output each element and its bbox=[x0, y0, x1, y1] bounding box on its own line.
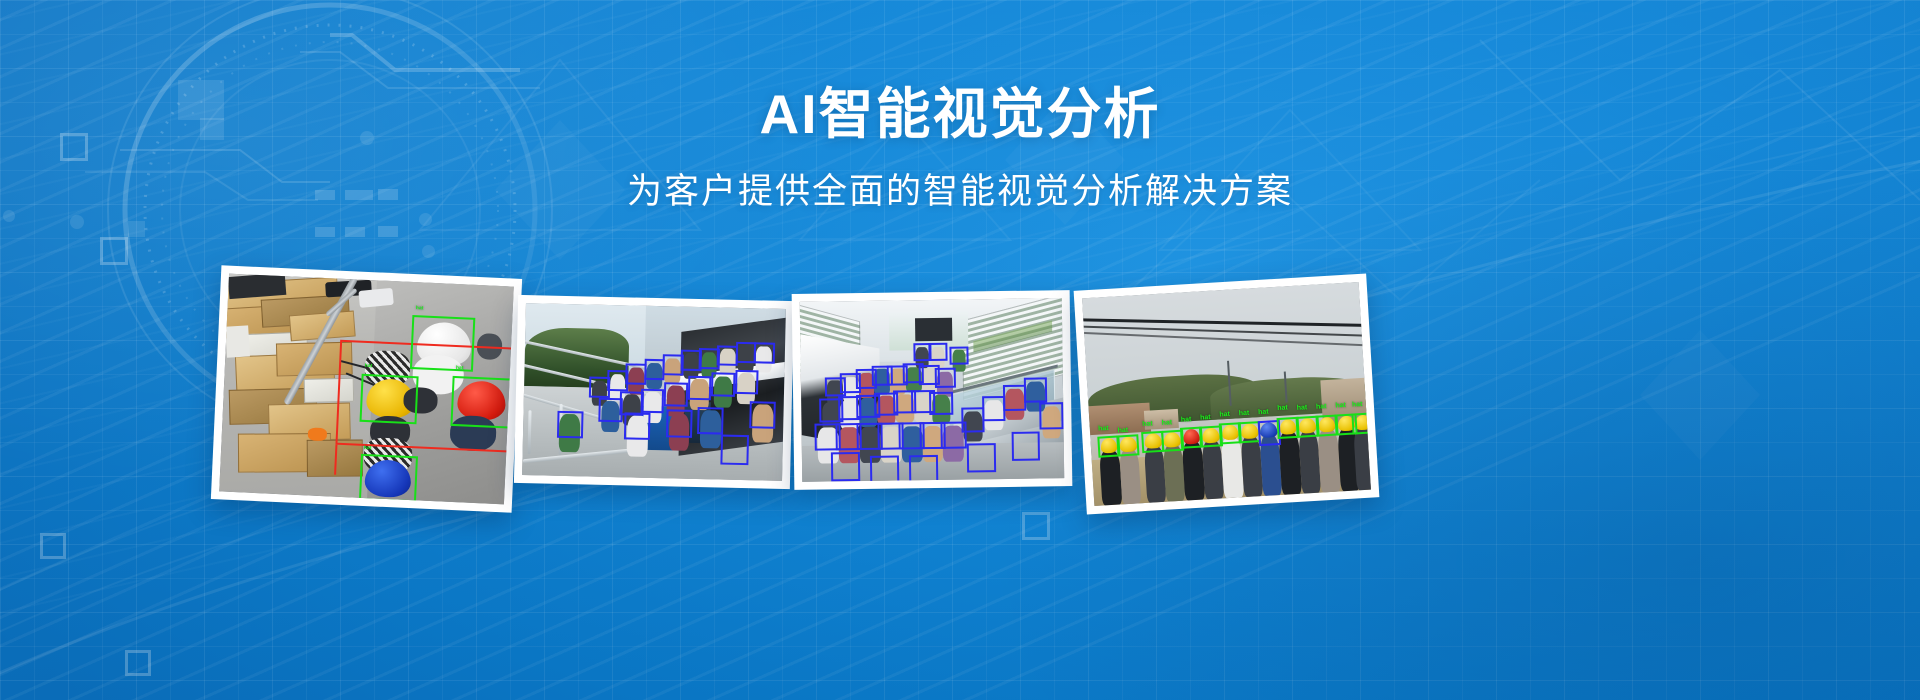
detection-box-helmet bbox=[359, 373, 418, 423]
detection-box-person bbox=[641, 388, 665, 413]
photo-footbridge-crowd-detection[interactable] bbox=[514, 295, 794, 489]
detection-box-helmet bbox=[1117, 435, 1140, 457]
detection-label: hat bbox=[1277, 404, 1288, 412]
detection-box-person bbox=[697, 407, 724, 435]
photo-scene bbox=[800, 298, 1064, 482]
photo-station-crowd-density[interactable] bbox=[792, 290, 1073, 490]
detection-box-person bbox=[870, 455, 899, 482]
detection-box-helmet bbox=[359, 454, 418, 502]
detection-box-person bbox=[688, 376, 712, 401]
detection-box-helmet bbox=[410, 315, 475, 372]
detection-box-person bbox=[664, 382, 688, 407]
detection-label: hat bbox=[1161, 419, 1172, 427]
detection-label: hat bbox=[1239, 409, 1250, 417]
detection-box-person bbox=[711, 373, 735, 398]
detection-box-person bbox=[929, 392, 953, 416]
detection-box-person bbox=[666, 409, 693, 437]
detection-label: hat bbox=[1258, 408, 1269, 416]
photo-warehouse-helmet-detection[interactable]: hat hat hat hat bbox=[211, 265, 522, 512]
hero-copy: AI智能视觉分析 为客户提供全面的智能视觉分析解决方案 bbox=[0, 84, 1920, 213]
detection-box-person bbox=[749, 401, 776, 429]
detection-box-person bbox=[934, 368, 955, 388]
detection-label: hat bbox=[1219, 410, 1230, 418]
photo-scene: hat hat hat hat bbox=[219, 274, 514, 505]
detection-label: hat bbox=[1316, 403, 1327, 411]
detection-box-person bbox=[557, 410, 584, 438]
detection-box-person bbox=[967, 443, 996, 472]
detection-box-person bbox=[909, 455, 938, 482]
photo-scene bbox=[522, 303, 786, 481]
detection-box-helmet bbox=[450, 375, 512, 428]
page-title: AI智能视觉分析 bbox=[0, 84, 1920, 145]
detection-label: hat bbox=[1352, 401, 1363, 409]
detection-box-person bbox=[831, 452, 860, 481]
hero-banner: AI智能视觉分析 为客户提供全面的智能视觉分析解决方案 bbox=[0, 0, 1920, 700]
detection-label: hat bbox=[1098, 425, 1109, 433]
detection-box-person bbox=[624, 412, 651, 440]
detection-box-person bbox=[720, 435, 749, 465]
detection-label: hat bbox=[1296, 404, 1307, 412]
detection-box-person bbox=[735, 370, 759, 395]
detection-box-person bbox=[753, 343, 774, 364]
detection-box-person bbox=[1024, 378, 1048, 404]
detection-box-person bbox=[913, 343, 932, 361]
photo-outdoor-workers-hat-detection[interactable]: hat hat hat hat hat hat hat hat bbox=[1074, 274, 1380, 515]
detection-label: hat bbox=[1117, 427, 1128, 435]
photo-scene: hat hat hat hat hat hat hat hat bbox=[1082, 282, 1371, 506]
detection-box-helmet bbox=[1351, 412, 1371, 434]
detection-box-person bbox=[950, 346, 969, 364]
detection-label: hat bbox=[1181, 416, 1192, 424]
detection-label: hat bbox=[1142, 420, 1153, 428]
detection-box-person bbox=[1011, 432, 1040, 461]
page-subtitle: 为客户提供全面的智能视觉分析解决方案 bbox=[0, 171, 1920, 213]
detection-box-person bbox=[1040, 403, 1064, 430]
detection-label: hat bbox=[1200, 414, 1211, 422]
detection-label: hat bbox=[1335, 401, 1346, 409]
